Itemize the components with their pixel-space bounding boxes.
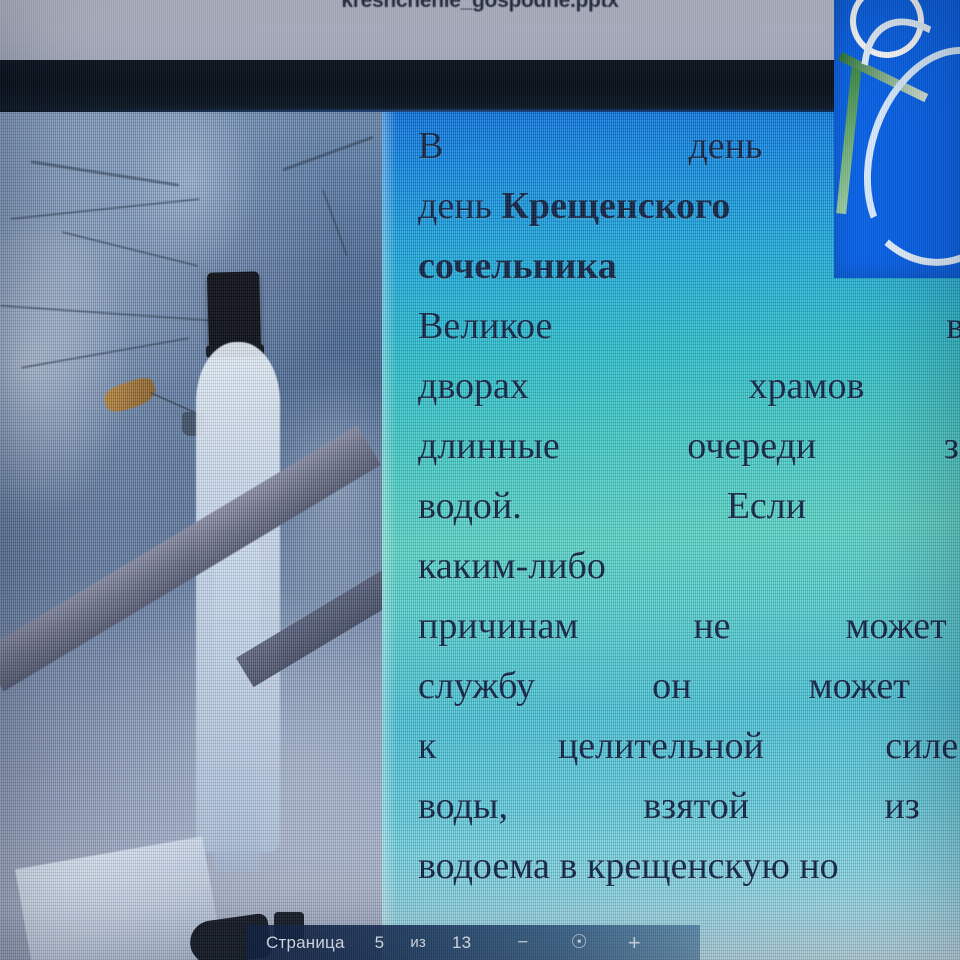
text-word: силе [885, 716, 958, 776]
panel-highlight-edge [382, 112, 396, 960]
text-word-bold: Крещенского [501, 185, 730, 227]
text-word: Великое [418, 296, 552, 356]
text-word: может [845, 596, 946, 656]
text-word: Если [727, 476, 806, 536]
text-word: водоема [418, 845, 550, 887]
text-word: причинам [418, 596, 578, 656]
text-line: водоема в крещенскую но [418, 836, 960, 896]
magnifier-icon[interactable]: ☉ [571, 931, 588, 954]
slide-photo [0, 112, 382, 960]
slide-canvas: В день праздни день Крещенского сочельни… [0, 112, 960, 960]
text-word: водой. [418, 476, 522, 536]
tree-branch-icon [31, 160, 180, 186]
text-line: каким-либо серьез [418, 536, 960, 596]
text-word: храмов [749, 356, 865, 416]
text-word: за [944, 416, 960, 476]
text-word: взятой [643, 776, 749, 836]
text-line: причинам не может пойт [418, 596, 960, 656]
text-line: дворах храмов тян [418, 356, 960, 416]
tree-branch-icon [21, 337, 189, 368]
text-word: он [652, 656, 691, 716]
minus-icon[interactable]: − [517, 932, 528, 954]
text-line: водой. Если человек [418, 476, 960, 536]
text-word: может [809, 656, 910, 716]
tree-branch-icon [0, 305, 210, 322]
censer-gold-detail [101, 375, 158, 416]
text-word: не [693, 596, 730, 656]
text-word: целительной [558, 716, 764, 776]
text-line: длинные очереди за св [418, 416, 960, 476]
text-word: к [418, 716, 436, 776]
tree-branch-icon [62, 231, 198, 267]
tree-branch-icon [10, 198, 199, 220]
text-word: длинные [418, 416, 560, 476]
text-word: дворах [418, 356, 529, 416]
text-word: день [418, 185, 492, 227]
text-line: к целительной силе про [418, 716, 960, 776]
text-word: каким-либо [418, 536, 606, 596]
text-word: в [559, 845, 577, 887]
page-label: Страница [266, 933, 345, 953]
plus-icon[interactable]: + [628, 930, 641, 956]
page-zoom-toolbar[interactable]: Страница 5 из 13 − ☉ + [246, 925, 700, 960]
text-word: но [799, 845, 838, 887]
monitor-screen: kreshchenie_gospodne.pptx [0, 0, 960, 960]
of-label: из [410, 934, 426, 951]
text-line: службу он может прибег [418, 656, 960, 716]
text-word: крещенскую [587, 845, 790, 887]
text-word: воды, [418, 776, 508, 836]
tree-branch-icon [322, 190, 348, 256]
app-title-bar: kreshchenie_gospodne.pptx [0, 0, 960, 62]
blue-globe-logo-overlay [834, 0, 960, 278]
priest-robe-fold [214, 542, 260, 872]
viewer-chrome-band [0, 60, 960, 118]
text-word: водоосвяще [946, 296, 960, 356]
text-line: Великое водоосвяще [418, 296, 960, 356]
total-pages-value: 13 [452, 933, 471, 953]
text-word-bold: сочельника [418, 236, 617, 296]
document-filename: kreshchenie_gospodne.pptx [0, 0, 960, 13]
wooden-plank [0, 425, 381, 691]
current-page-value[interactable]: 5 [375, 933, 385, 953]
text-line: воды, взятой из обыч [418, 776, 960, 836]
priest-klobuk-hat [207, 271, 261, 350]
text-word: очереди [687, 416, 816, 476]
text-word: В [418, 116, 443, 176]
text-word: из [884, 776, 919, 836]
tree-branch-icon [282, 136, 373, 172]
text-word: день [688, 116, 762, 176]
text-word: службу [418, 656, 535, 716]
